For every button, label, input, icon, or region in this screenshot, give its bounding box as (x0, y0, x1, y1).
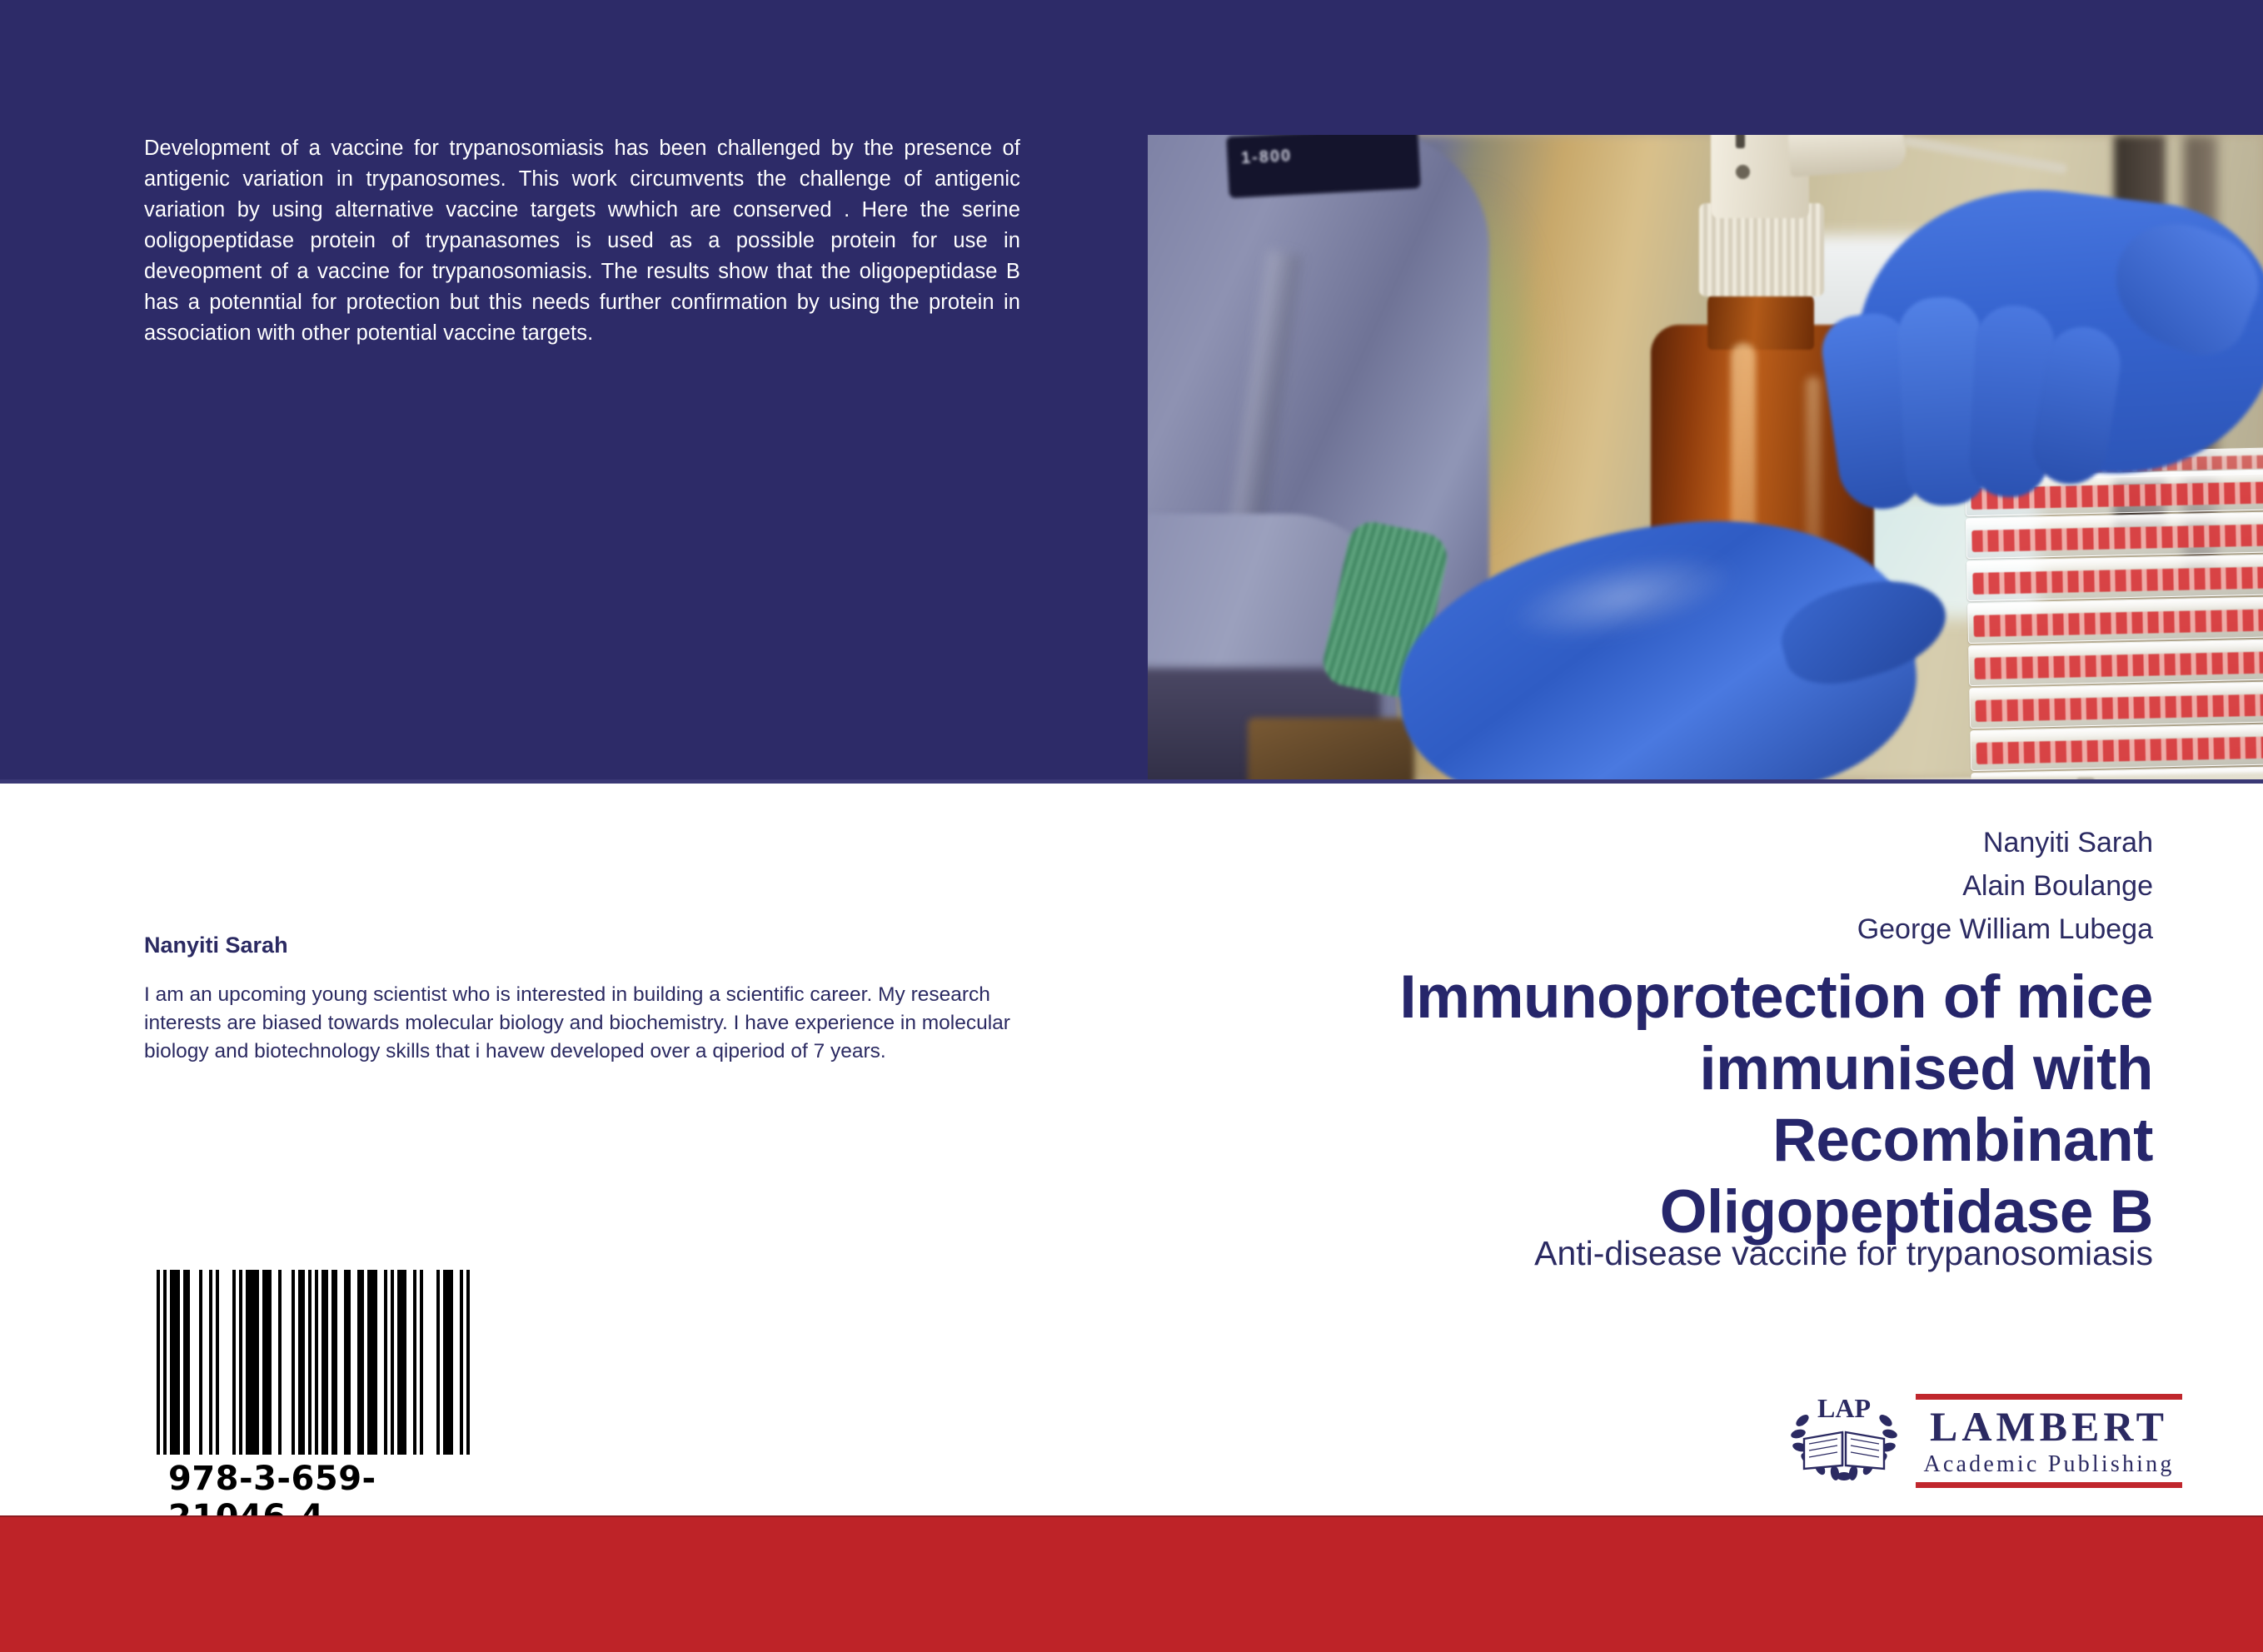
photo-microplate-stack (1965, 469, 2263, 779)
photo-microplate (1969, 681, 2263, 729)
barcode-image (157, 1270, 470, 1455)
front-cover-title: Immunoprotection of mice immunised with … (1104, 962, 2153, 1248)
photo-microplate (1967, 596, 2263, 644)
photo-microplate (1966, 511, 2263, 559)
barcode-block: 978-3-659-21046-4 (157, 1270, 483, 1536)
title-line: Immunoprotection of mice (1104, 962, 2153, 1033)
photo-pump-slot (1736, 135, 1745, 148)
bottom-red-band (0, 1517, 2263, 1652)
photo-microplate (1970, 724, 2263, 771)
photo-pump-dot (1736, 165, 1750, 179)
title-line: Recombinant (1104, 1105, 2153, 1177)
author-name: Nanyiti Sarah (1154, 821, 2153, 864)
publisher-tagline: Academic Publishing (1916, 1450, 2182, 1479)
publisher-name-block: LAMBERT Academic Publishing (1916, 1394, 2182, 1488)
back-cover-author-bio: I am an upcoming young scientist who is … (144, 981, 1015, 1066)
photo-amber-bottle-neck (1707, 290, 1814, 350)
logo-rule-bottom (1916, 1482, 2182, 1488)
barcode-bars (157, 1270, 470, 1455)
back-cover-blurb: Development of a vaccine for trypanosomi… (144, 133, 1020, 349)
author-name: George William Lubega (1154, 908, 2153, 951)
photo-platform-knob (2076, 778, 2095, 779)
back-cover-author-heading: Nanyiti Sarah (144, 933, 288, 958)
title-line: immunised with (1104, 1033, 2153, 1105)
publisher-name: LAMBERT (1916, 1402, 2182, 1450)
lap-emblem-icon: LAP (1789, 1392, 1899, 1485)
publisher-logo: LAP LAMBERT Academic Publishing (1789, 1389, 2181, 1490)
navy-panel-edge (0, 779, 2263, 784)
svg-text:LAP: LAP (1817, 1393, 1871, 1423)
photo-belt (1248, 718, 1414, 779)
photo-microplate (1966, 554, 2263, 601)
front-cover-authors: Nanyiti Sarah Alain Boulange George Will… (1154, 821, 2153, 951)
photo-microplate (1968, 639, 2263, 686)
book-cover: Development of a vaccine for trypanosomi… (0, 0, 2263, 1652)
logo-rule-top (1916, 1394, 2182, 1400)
author-name: Alain Boulange (1154, 864, 2153, 908)
lab-photograph: 1-800 (1148, 135, 2263, 779)
front-cover-subtitle: Anti-disease vaccine for trypanosomiasis (1104, 1234, 2153, 1273)
